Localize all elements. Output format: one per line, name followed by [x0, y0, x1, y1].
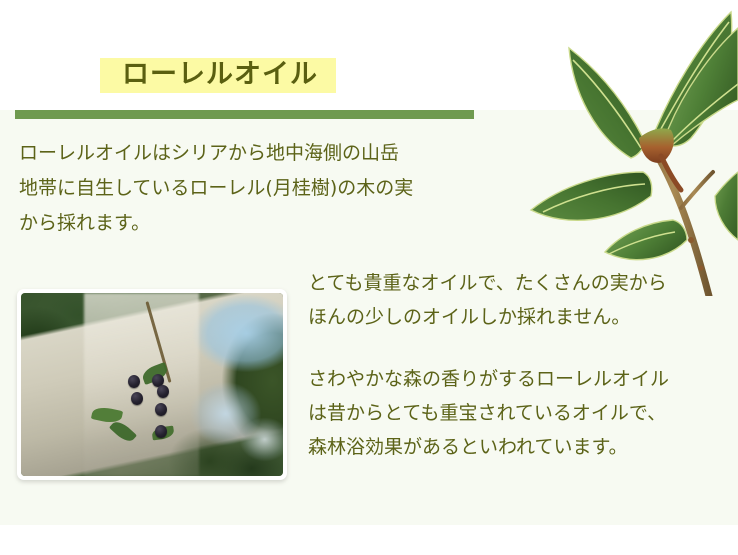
laurel-berry — [131, 392, 143, 405]
body-line: さわやかな森の香りがするローレルオイル — [308, 362, 738, 396]
trunk-highlight — [84, 293, 199, 476]
laurel-tree-photo — [17, 289, 287, 480]
laurel-berry — [155, 425, 167, 438]
laurel-berry — [155, 403, 167, 416]
laurel-tree-photo-inner — [21, 293, 283, 476]
page-title-text: ローレルオイル — [122, 59, 318, 90]
page-root: ローレルオイル ローレルオイルはシリアから地中海側の山岳 地帯に自生しているロー… — [0, 0, 738, 555]
intro-line: 地帯に自生しているローレル(月桂樹)の木の実 — [19, 171, 489, 206]
intro-paragraph: ローレルオイルはシリアから地中海側の山岳 地帯に自生しているローレル(月桂樹)の… — [19, 136, 489, 241]
intro-line: から採れます。 — [19, 206, 489, 241]
paragraph-spacer — [308, 334, 738, 362]
body-line: 森林浴効果があるといわれています。 — [308, 430, 738, 464]
body-line: は昔からとても重宝されているオイルで、 — [308, 396, 738, 430]
body-text-column: とても貴重なオイルで、たくさんの実から ほんの少しのオイルしか採れません。 さわ… — [308, 266, 738, 464]
page-title: ローレルオイル — [100, 58, 336, 93]
body-line: ほんの少しのオイルしか採れません。 — [308, 300, 738, 334]
body-line: とても貴重なオイルで、たくさんの実から — [308, 266, 738, 300]
laurel-berry — [157, 385, 169, 398]
header-band — [0, 0, 738, 110]
intro-line: ローレルオイルはシリアから地中海側の山岳 — [19, 136, 489, 171]
section-divider-bar — [15, 110, 474, 119]
title-highlight: ローレルオイル — [100, 58, 336, 93]
